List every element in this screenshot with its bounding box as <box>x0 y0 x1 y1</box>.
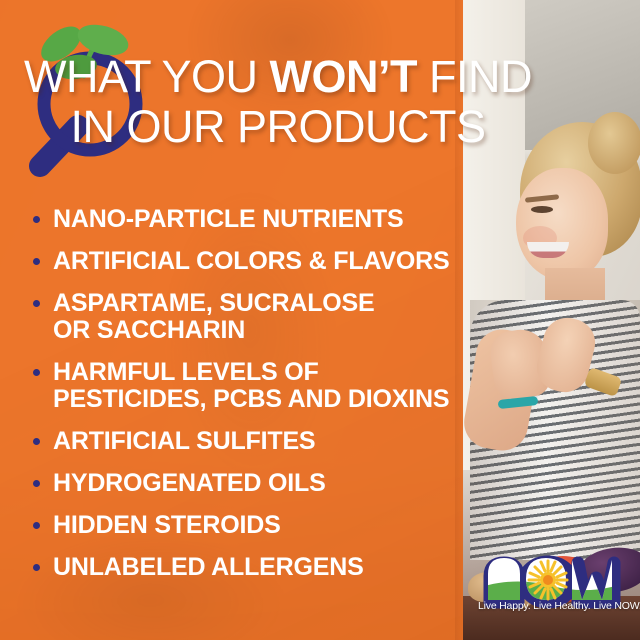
excluded-ingredients-list: NANO-PARTICLE NUTRIENTS ARTIFICIAL COLOR… <box>28 206 458 596</box>
brand-tagline: Live Happy. Live Healthy. Live NOW. <box>478 600 628 612</box>
list-item-line-1: ASPARTAME, SUCRALOSE <box>53 289 374 317</box>
list-item-line-1: HYDROGENATED OILS <box>53 469 326 497</box>
now-foods-promo-poster: WHAT YOU WON’T FIND IN OUR PRODUCTS NANO… <box>0 0 640 640</box>
list-item: UNLABELED ALLERGENS <box>28 554 458 581</box>
headline-line-2: IN OUR PRODUCTS <box>0 102 556 152</box>
list-item-line-1: HARMFUL LEVELS OF <box>53 358 319 386</box>
list-item-line-1: NANO-PARTICLE NUTRIENTS <box>53 205 403 233</box>
list-item-line-2: OR SACCHARIN <box>53 317 458 344</box>
list-item-line-1: HIDDEN STEROIDS <box>53 511 281 539</box>
page-title: WHAT YOU WON’T FIND IN OUR PRODUCTS <box>0 52 556 152</box>
list-item-line-2: PESTICIDES, PCBS AND DIOXINS <box>53 386 458 413</box>
list-item-line-1: ARTIFICIAL SULFITES <box>53 427 315 455</box>
headline-bold: WON’T <box>270 51 417 102</box>
list-item: NANO-PARTICLE NUTRIENTS <box>28 206 458 233</box>
list-item: HARMFUL LEVELS OF PESTICIDES, PCBS AND D… <box>28 359 458 413</box>
list-item: HYDROGENATED OILS <box>28 470 458 497</box>
headline-pre: WHAT YOU <box>24 51 270 102</box>
list-item-line-1: UNLABELED ALLERGENS <box>53 553 364 581</box>
list-item: ARTIFICIAL SULFITES <box>28 428 458 455</box>
list-item-line-1: ARTIFICIAL COLORS & FLAVORS <box>53 247 449 275</box>
sunburst-icon <box>529 561 567 599</box>
photo-subject-bun <box>588 112 640 174</box>
list-item: ASPARTAME, SUCRALOSE OR SACCHARIN <box>28 290 458 344</box>
list-item: HIDDEN STEROIDS <box>28 512 458 539</box>
photo-subject-face <box>516 168 608 280</box>
headline-line-1: WHAT YOU WON’T FIND <box>0 52 556 102</box>
photo-subject-eye <box>531 206 553 213</box>
headline-post: FIND <box>417 51 532 102</box>
list-item: ARTIFICIAL COLORS & FLAVORS <box>28 248 458 275</box>
